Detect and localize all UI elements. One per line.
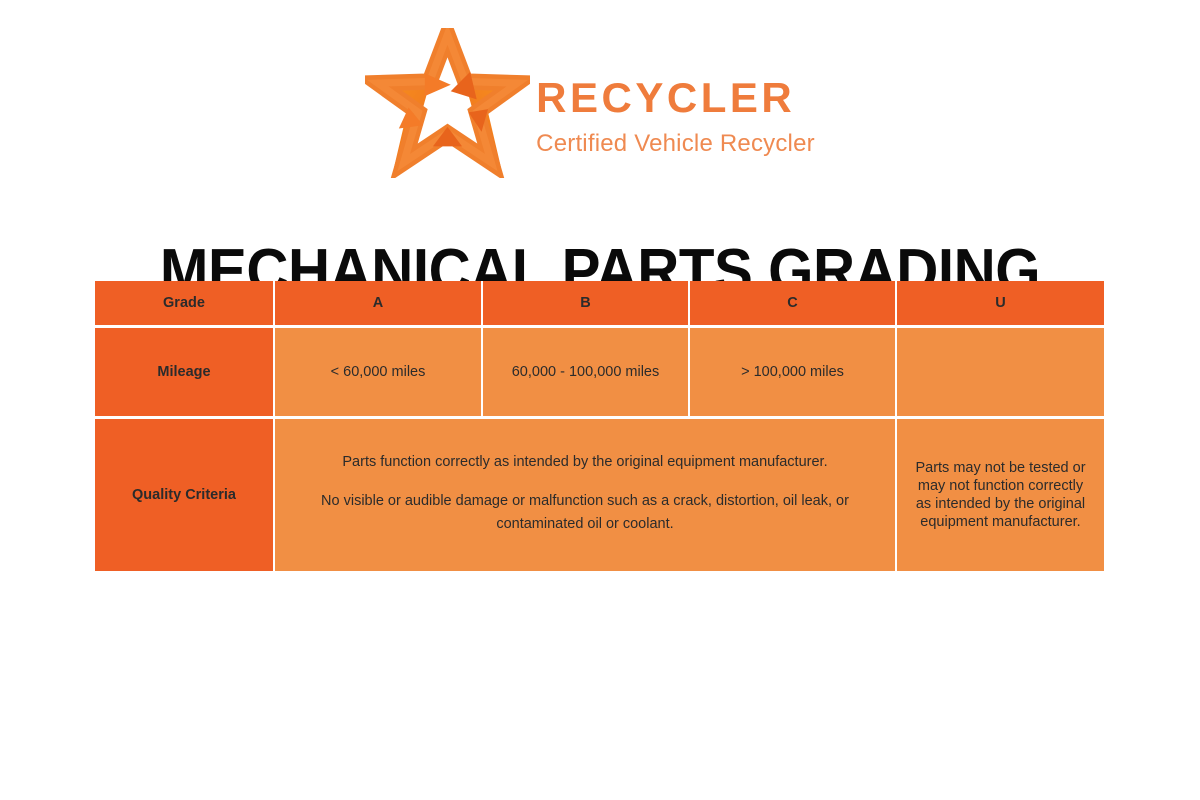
mechanical-parts-grading-table: Grade A B C U Mileage < 60,000 miles 60,… (95, 281, 1104, 571)
table-header-row: Grade A B C U (95, 281, 1104, 328)
table-row-quality-criteria: Quality Criteria Parts function correctl… (95, 419, 1104, 571)
logo-wordmark: RECYCLER (536, 77, 815, 119)
column-header-a: A (275, 281, 483, 328)
column-header-grade: Grade (95, 281, 275, 328)
brand-logo: RECYCLER Certified Vehicle Recycler (0, 28, 1200, 178)
column-header-c: C (690, 281, 897, 328)
cell-quality-criteria-abc: Parts function correctly as intended by … (275, 419, 897, 571)
column-header-u: U (897, 281, 1104, 328)
logo-tagline: Certified Vehicle Recycler (536, 132, 815, 156)
cell-mileage-u (897, 328, 1104, 419)
table-row-mileage: Mileage < 60,000 miles 60,000 - 100,000 … (95, 328, 1104, 419)
cell-mileage-b: 60,000 - 100,000 miles (483, 328, 690, 419)
row-label-quality-criteria: Quality Criteria (95, 419, 275, 571)
quality-criteria-paragraph-1: Parts function correctly as intended by … (293, 451, 877, 473)
row-label-mileage: Mileage (95, 328, 275, 419)
logo-text-block: RECYCLER Certified Vehicle Recycler (536, 51, 815, 156)
logo-inner: RECYCLER Certified Vehicle Recycler (365, 28, 815, 178)
cell-mileage-c: > 100,000 miles (690, 328, 897, 419)
quality-criteria-paragraph-2: No visible or audible damage or malfunct… (293, 490, 877, 535)
column-header-b: B (483, 281, 690, 328)
cell-quality-criteria-u: Parts may not be tested or may not funct… (897, 419, 1104, 571)
cell-mileage-a: < 60,000 miles (275, 328, 483, 419)
recycling-star-icon (365, 28, 530, 178)
